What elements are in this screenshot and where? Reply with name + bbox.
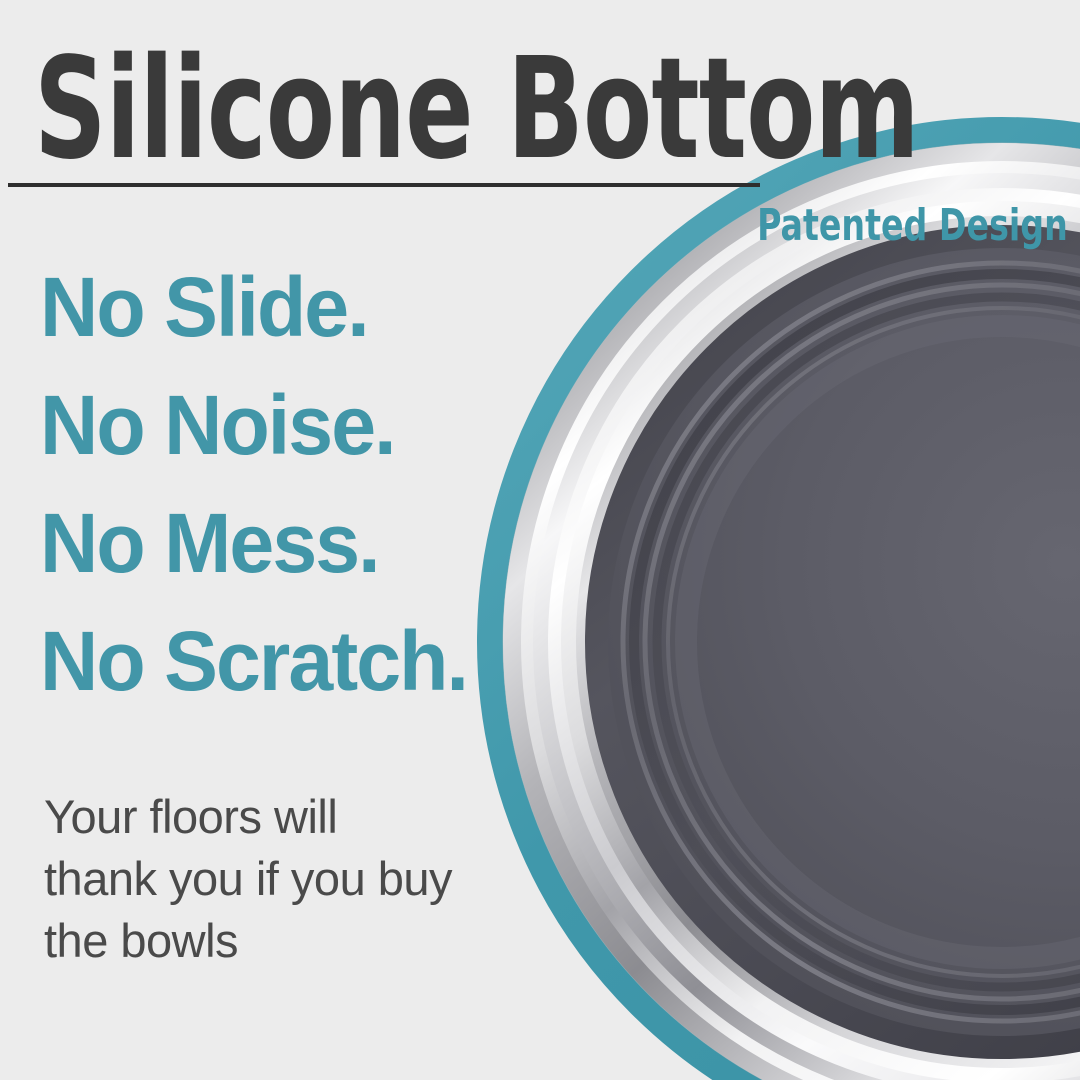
tagline-line-2: thank you if you buy xyxy=(44,848,474,910)
page-title: Silicone Bottom xyxy=(34,40,919,180)
benefit-item-no-mess: No Mess. xyxy=(40,484,654,602)
title-underline-rule xyxy=(8,183,760,187)
text-layer: Silicone Bottom Patented Design No Slide… xyxy=(0,0,1080,1080)
patented-design-badge: Patented Design xyxy=(757,204,1068,248)
tagline-line-3: the bowls xyxy=(44,910,474,972)
tagline-line-1: Your floors will xyxy=(44,786,474,848)
benefit-item-no-slide: No Slide. xyxy=(40,248,654,366)
benefits-list: No Slide. No Noise. No Mess. No Scratch. xyxy=(40,248,680,720)
benefit-item-no-scratch: No Scratch. xyxy=(40,602,654,720)
poster-canvas: Silicone Bottom Patented Design No Slide… xyxy=(0,0,1080,1080)
benefit-item-no-noise: No Noise. xyxy=(40,366,654,484)
tagline: Your floors will thank you if you buy th… xyxy=(44,786,474,972)
